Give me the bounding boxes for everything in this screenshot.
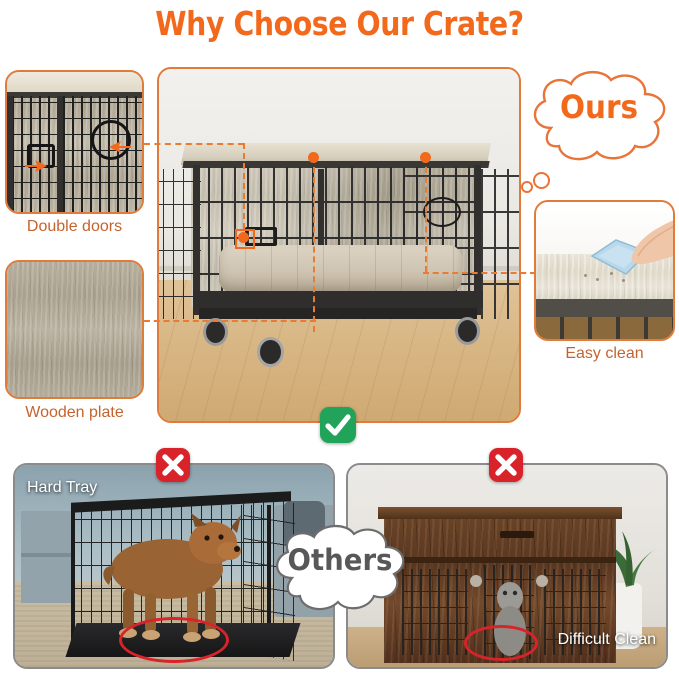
panel-double-doors [5, 70, 144, 214]
doors-frame-left [7, 96, 13, 214]
wooden-plate-swatch [7, 262, 142, 397]
crate-base-rail [193, 291, 483, 308]
check-badge [320, 407, 356, 443]
crumb [610, 272, 613, 275]
side-latch-loop [423, 197, 461, 227]
crumb [622, 279, 625, 282]
doors-frame-mid [57, 96, 63, 214]
ours-bubble-label: Ours [525, 88, 672, 126]
cross-badge-left [156, 448, 190, 482]
marker-dot-side-door [420, 152, 431, 163]
infographic-canvas: Why Choose Our Crate? [0, 0, 679, 675]
main-crate-photo [159, 69, 519, 421]
others-bubble-label: Others [266, 543, 414, 577]
panel-main-crate [157, 67, 521, 423]
hand [622, 212, 675, 266]
easy-clean-photo [536, 202, 673, 339]
doors-top-plate [7, 72, 142, 94]
cross-badge-right [489, 448, 523, 482]
wicker-baskets [536, 317, 673, 339]
connector-double-doors [144, 143, 244, 145]
caster-wheel [257, 337, 284, 367]
rustic-crate-top [378, 507, 622, 519]
page-title: Why Choose Our Crate? [48, 4, 632, 43]
cross-icon [489, 448, 523, 482]
shelf-divider [21, 553, 73, 557]
crumb [596, 278, 599, 281]
caster-wheel [203, 318, 228, 346]
door-hinge [536, 575, 548, 587]
crumb [584, 274, 587, 277]
rustic-drawer-seam [384, 557, 616, 563]
caster-wheel [455, 317, 480, 345]
caption-easy-clean: Easy clean [534, 345, 675, 363]
drawer-handle [500, 531, 534, 538]
check-icon [320, 407, 356, 443]
cross-icon [156, 448, 190, 482]
connector-side-door-vertical [425, 157, 427, 272]
door-hinge [470, 575, 482, 587]
latch-arrow-icon [23, 158, 49, 174]
caption-wooden-plate: Wooden plate [5, 404, 144, 422]
connector-wooden-plate [144, 320, 316, 322]
background-shelf [21, 511, 73, 603]
crate-base-rail-lower [199, 308, 477, 319]
label-hard-tray: Hard Tray [27, 479, 97, 497]
problem-highlight-ellipse [464, 625, 538, 661]
caption-double-doors: Double doors [5, 218, 144, 236]
latch-arrow-icon [107, 139, 133, 155]
connector-tabletop-vertical [313, 157, 315, 332]
ours-bubble-dot [521, 181, 533, 193]
double-doors-photo [7, 72, 142, 212]
panel-wooden-plate [5, 260, 144, 399]
connector-latch-vertical [243, 143, 245, 239]
problem-highlight-ellipse [119, 617, 229, 663]
panel-easy-clean [534, 200, 675, 341]
marker-square-latch [235, 229, 255, 249]
ours-bubble-dot [533, 172, 550, 189]
marker-dot-tabletop [308, 152, 319, 163]
easy-clean-frame-band [536, 299, 673, 317]
connector-easy-clean [423, 272, 536, 274]
label-difficult-clean: Difficult Clean [558, 631, 656, 649]
